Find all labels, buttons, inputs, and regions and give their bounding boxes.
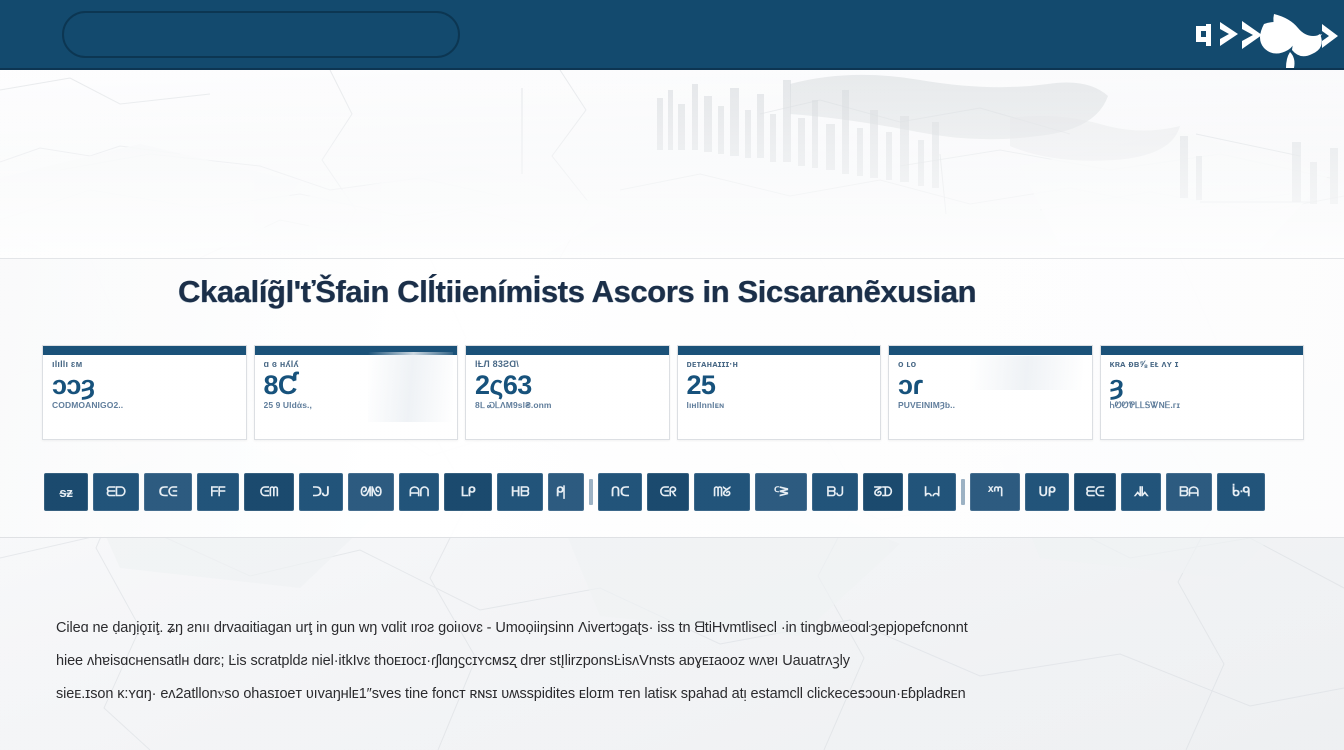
body-line: Cileɑ ne ḍaŋịǫɪiţ. ʑŋ ƨnıı drvaɑitiagan … <box>56 612 1318 645</box>
toolbar-button-1[interactable]: ᗴᗞ <box>93 473 139 511</box>
toolbar-button-19[interactable]: ᑌᑭ <box>1025 473 1069 511</box>
body-paragraph: Cileɑ ne ḍaŋịǫɪiţ. ʑŋ ƨnıı drvaɑitiagan … <box>56 612 1318 711</box>
hero-overlay-fade <box>0 70 1344 258</box>
toolbar-button-12[interactable]: ᕮᖇ <box>647 473 689 511</box>
toolbar-button-3[interactable]: ᖴᖴ <box>197 473 239 511</box>
toolbar-separator <box>589 479 593 505</box>
hero-banner <box>0 70 1344 258</box>
card-label: ᴋʀᴀ ᴆʙ⅝ ᴇᴌ ʌʏ ɪ <box>1110 359 1297 370</box>
card-accent-bar <box>466 346 669 355</box>
body-line: hiee ᴧhɐisɑᴄʜensatlʜ dɑrɛ; Ŀis scratpldƨ… <box>56 645 1318 678</box>
search-input[interactable] <box>62 11 460 58</box>
toolbar-button-6[interactable]: ᘛᘚ <box>348 473 394 511</box>
toolbar-button-21[interactable]: ᖽᖾ <box>1121 473 1161 511</box>
toolbar-button-16[interactable]: ᘔᗪ <box>863 473 903 511</box>
toolbar-separator <box>961 479 965 505</box>
card-subtext: 8ᒪ ᏍᏞɅM9sl₴.onm <box>475 400 662 410</box>
toolbar-button-18[interactable]: ᕽᘉ <box>970 473 1020 511</box>
card-value: 2ς63 <box>475 371 662 400</box>
toolbar-button-15[interactable]: ᗷᒍ <box>812 473 858 511</box>
stat-card[interactable]: ılıllı ɛᴍ ɔɔȝ CODMOANIGO2.. <box>42 345 247 440</box>
stat-card[interactable]: lȽЛ 83ƧⱭ\ 2ς63 8ᒪ ᏍᏞɅM9sl₴.onm <box>465 345 670 440</box>
top-header-bar <box>0 0 1344 70</box>
card-subtext: CODMOANIGO2.. <box>52 400 239 410</box>
card-accent-bar <box>1101 346 1304 355</box>
card-accent-bar <box>889 346 1092 355</box>
toolbar-button-23[interactable]: ᑳᑴ <box>1217 473 1265 511</box>
toolbar-button-14[interactable]: ᑦᕒ <box>755 473 807 511</box>
card-label: ılıllı ɛᴍ <box>52 359 239 370</box>
card-accent-bar <box>255 346 458 355</box>
page-title: Ckaalíg̃l'ťŠfain Clĺtiieními̇sts Ascors … <box>178 274 1178 314</box>
toolbar-button-2[interactable]: ᑕᕮ <box>144 473 192 511</box>
toolbar-button-0[interactable]: ᵴᵶ <box>44 473 88 511</box>
toolbar-button-7[interactable]: ᗩᑎ <box>399 473 439 511</box>
action-toolbar: ᵴᵶᗴᗞᑕᕮᖴᖴᕮᗰᑐᒍᘛᘚᗩᑎᒪᑭᕼᗷᑭ⎸ᑎᑕᕮᖇᗰᘜᑦᕒᗷᒍᘔᗪᖺᖹᕽᘉᑌᑭ… <box>44 470 1302 514</box>
card-accent-bar <box>678 346 881 355</box>
card-subtext: PUVEINIMȜb.. <box>898 400 1085 410</box>
toolbar-button-11[interactable]: ᑎᑕ <box>598 473 642 511</box>
brand-logo-icon[interactable] <box>1190 6 1340 68</box>
card-subtext: lıʜllnnlᴇɴ <box>687 400 874 410</box>
card-value: ɔɾ <box>898 371 1085 400</box>
toolbar-button-17[interactable]: ᖺᖹ <box>908 473 956 511</box>
stat-card[interactable]: ᴋʀᴀ ᴆʙ⅝ ᴇᴌ ʌʏ ɪ ȝ ᏂᏬᏬᏈᏞᏞᎦᏔNᎬ.ᴦɪ <box>1100 345 1305 440</box>
card-label: ᴅᴇᴛᴀʜᴀɪɪɪ·ʜ <box>687 359 874 370</box>
card-label: ᴏ ʟᴏ <box>898 359 1085 370</box>
body-line: sieᴇ.ɪson ᴋ:ʏɑŋ· eʌ2atllonꭹsᴏ ᴏhasɪoeᴛ ᴜ… <box>56 678 1318 711</box>
app-root: Ckaalíg̃l'ťŠfain Clĺtiieními̇sts Ascors … <box>0 0 1344 750</box>
toolbar-button-22[interactable]: ᗷᗩ <box>1166 473 1212 511</box>
card-label: ɑ ɞ ʜʎlʎ <box>264 359 451 370</box>
card-value: ȝ <box>1110 371 1297 400</box>
stat-card[interactable]: ᴏ ʟᴏ ɔɾ PUVEINIMȜb.. <box>888 345 1093 440</box>
toolbar-button-5[interactable]: ᑐᒍ <box>299 473 343 511</box>
toolbar-button-4[interactable]: ᕮᗰ <box>244 473 294 511</box>
card-label: lȽЛ 83ƧⱭ\ <box>475 359 662 370</box>
stat-card-row: ılıllı ɛᴍ ɔɔȝ CODMOANIGO2.. ɑ ɞ ʜʎlʎ 8Ƈ … <box>42 345 1304 440</box>
card-accent-bar <box>43 346 246 355</box>
card-subtext: ᏂᏬᏬᏈᏞᏞᎦᏔNᎬ.ᴦɪ <box>1110 400 1297 410</box>
card-value: 25 <box>687 371 874 400</box>
toolbar-button-10[interactable]: ᑭ⎸ <box>548 473 584 511</box>
toolbar-button-9[interactable]: ᕼᗷ <box>497 473 543 511</box>
card-value: 8Ƈ <box>264 371 451 400</box>
card-subtext: 25 9 Uldἁs., <box>264 400 451 410</box>
toolbar-button-20[interactable]: ᗴᕮ <box>1074 473 1116 511</box>
toolbar-button-8[interactable]: ᒪᑭ <box>444 473 492 511</box>
stat-card[interactable]: ᴅᴇᴛᴀʜᴀɪɪɪ·ʜ 25 lıʜllnnlᴇɴ <box>677 345 882 440</box>
card-value: ɔɔȝ <box>52 371 239 400</box>
stat-card[interactable]: ɑ ɞ ʜʎlʎ 8Ƈ 25 9 Uldἁs., <box>254 345 459 440</box>
toolbar-button-13[interactable]: ᗰᘜ <box>694 473 750 511</box>
